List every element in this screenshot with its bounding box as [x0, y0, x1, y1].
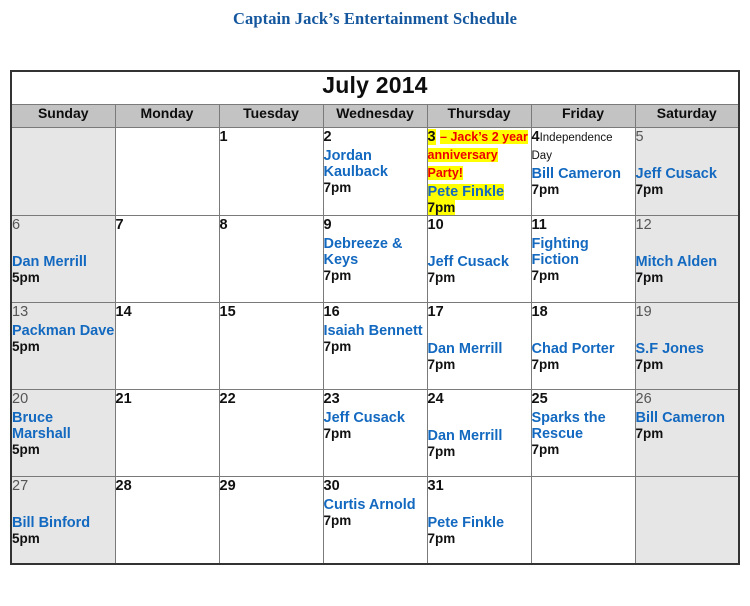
day-number: 6	[12, 217, 20, 233]
day-number: 28	[116, 478, 132, 494]
day-cell-20[interactable]: 20Bruce Marshall5pm	[11, 390, 115, 477]
event-artist: Jeff Cusack	[428, 254, 509, 270]
day-number: 7	[116, 217, 124, 233]
day-cell-2[interactable]: 2Jordan Kaulback7pm	[323, 128, 427, 216]
event-time-line: 7pm	[324, 513, 427, 528]
event-time-line: 7pm	[636, 182, 739, 197]
day-number: 25	[532, 391, 548, 407]
calendar-week-row: 13Packman Dave5pm141516Isaiah Bennett7pm…	[11, 303, 739, 390]
day-number: 3	[428, 129, 436, 145]
day-cell-empty[interactable]	[531, 477, 635, 565]
event-time-line: 7pm	[428, 531, 531, 546]
event-note: – Jack’s 2 year anniversary Party!	[428, 130, 528, 180]
event-time: 5pm	[12, 339, 40, 354]
event-time-line: 7pm	[636, 357, 739, 372]
day-cell-1[interactable]: 1	[219, 128, 323, 216]
event-artist-line: Packman Dave	[12, 323, 115, 339]
event-artist-line: Mitch Alden	[636, 254, 739, 270]
day-cell-22[interactable]: 22	[219, 390, 323, 477]
weekday-header-row: SundayMondayTuesdayWednesdayThursdayFrid…	[11, 105, 739, 128]
event-time: 7pm	[324, 268, 352, 283]
event-artist: Jeff Cusack	[324, 410, 405, 426]
event-time: 7pm	[636, 357, 664, 372]
event-artist-line: Isaiah Bennett	[324, 323, 427, 339]
day-cell-11[interactable]: 11Fighting Fiction7pm	[531, 216, 635, 303]
event-artist-line: Jeff Cusack	[428, 254, 531, 270]
calendar-container: July 2014 SundayMondayTuesdayWednesdayTh…	[10, 70, 740, 565]
day-number: 4	[532, 129, 540, 145]
event-artist: Pete Finkle	[428, 515, 505, 531]
event-time: 7pm	[636, 270, 664, 285]
day-cell-empty[interactable]	[635, 477, 739, 565]
event-artist: Fighting Fiction	[532, 236, 589, 268]
day-cell-10[interactable]: 10Jeff Cusack7pm	[427, 216, 531, 303]
event-time-line: 5pm	[12, 270, 115, 285]
day-cell-17[interactable]: 17Dan Merrill7pm	[427, 303, 531, 390]
weekday-header-friday: Friday	[531, 105, 635, 128]
weekday-header-sunday: Sunday	[11, 105, 115, 128]
event-artist-line: Pete Finkle	[428, 184, 531, 200]
event-time: 7pm	[428, 200, 456, 215]
day-number: 14	[116, 304, 132, 320]
day-cell-26[interactable]: 26Bill Cameron7pm	[635, 390, 739, 477]
day-cell-8[interactable]: 8	[219, 216, 323, 303]
event-time: 7pm	[428, 270, 456, 285]
event-artist: Dan Merrill	[428, 341, 503, 357]
event-artist-line: Bill Binford	[12, 515, 115, 531]
event-artist: Packman Dave	[12, 323, 114, 339]
event-artist-line: Dan Merrill	[428, 428, 531, 444]
event-artist: Bruce Marshall	[12, 410, 71, 442]
weekday-header-thursday: Thursday	[427, 105, 531, 128]
day-cell-empty[interactable]	[115, 128, 219, 216]
calendar-week-row: 12Jordan Kaulback7pm3 – Jack’s 2 year an…	[11, 128, 739, 216]
month-title: July 2014	[11, 71, 739, 105]
event-time: 5pm	[12, 442, 40, 457]
day-number: 12	[636, 217, 652, 233]
day-number: 31	[428, 478, 444, 494]
day-cell-21[interactable]: 21	[115, 390, 219, 477]
event-time-line: 7pm	[532, 268, 635, 283]
calendar-week-row: 27Bill Binford5pm282930Curtis Arnold7pm3…	[11, 477, 739, 565]
day-cell-28[interactable]: 28	[115, 477, 219, 565]
event-artist-line: Jeff Cusack	[324, 410, 427, 426]
event-artist: Bill Binford	[12, 515, 90, 531]
event-time-line: 7pm	[324, 180, 427, 195]
event-time-line: 5pm	[12, 339, 115, 354]
day-number: 27	[12, 478, 28, 494]
event-time-line: 7pm	[532, 442, 635, 457]
event-time-line: 7pm	[428, 270, 531, 285]
event-artist: Dan Merrill	[12, 254, 87, 270]
day-number: 1	[220, 129, 228, 145]
day-cell-12[interactable]: 12Mitch Alden7pm	[635, 216, 739, 303]
event-time-line: 5pm	[12, 531, 115, 546]
event-artist: Dan Merrill	[428, 428, 503, 444]
day-cell-23[interactable]: 23Jeff Cusack7pm	[323, 390, 427, 477]
event-time: 7pm	[324, 339, 352, 354]
event-time-line: 7pm	[324, 339, 427, 354]
day-number: 30	[324, 478, 340, 494]
day-number: 23	[324, 391, 340, 407]
event-artist: S.F Jones	[636, 341, 705, 357]
event-time-line: 7pm	[324, 426, 427, 441]
event-time-line: 7pm	[324, 268, 427, 283]
day-number: 22	[220, 391, 236, 407]
event-artist-line: Jeff Cusack	[636, 166, 739, 182]
event-artist: Chad Porter	[532, 341, 615, 357]
event-artist-line: Sparks the Rescue	[532, 410, 635, 442]
day-cell-31[interactable]: 31Pete Finkle7pm	[427, 477, 531, 565]
event-time: 5pm	[12, 531, 40, 546]
month-title-row: July 2014	[11, 71, 739, 105]
day-cell-empty[interactable]	[11, 128, 115, 216]
day-cell-14[interactable]: 14	[115, 303, 219, 390]
event-artist-line: Curtis Arnold	[324, 497, 427, 513]
event-artist: Isaiah Bennett	[324, 323, 423, 339]
day-cell-16[interactable]: 16Isaiah Bennett7pm	[323, 303, 427, 390]
event-time: 7pm	[636, 426, 664, 441]
event-time-line: 7pm	[636, 426, 739, 441]
day-cell-3[interactable]: 3 – Jack’s 2 year anniversary Party!Pete…	[427, 128, 531, 216]
weekday-header-saturday: Saturday	[635, 105, 739, 128]
event-artist-line: Pete Finkle	[428, 515, 531, 531]
event-artist-line: Dan Merrill	[12, 254, 115, 270]
day-number: 9	[324, 217, 332, 233]
event-time-line: 7pm	[428, 444, 531, 459]
event-artist-line: Dan Merrill	[428, 341, 531, 357]
calendar-body: July 2014 SundayMondayTuesdayWednesdayTh…	[11, 71, 739, 564]
holiday-label: Independence Day	[532, 132, 613, 162]
event-time: 5pm	[12, 270, 40, 285]
calendar-week-row: 20Bruce Marshall5pm212223Jeff Cusack7pm2…	[11, 390, 739, 477]
day-cell-15[interactable]: 15	[219, 303, 323, 390]
event-artist-line: Bruce Marshall	[12, 410, 115, 442]
event-time-line: 5pm	[12, 442, 115, 457]
event-time: 7pm	[532, 442, 560, 457]
weekday-header-monday: Monday	[115, 105, 219, 128]
event-artist-line: S.F Jones	[636, 341, 739, 357]
weekday-header-tuesday: Tuesday	[219, 105, 323, 128]
event-time: 7pm	[428, 444, 456, 459]
event-time: 7pm	[324, 180, 352, 195]
day-number: 10	[428, 217, 444, 233]
event-artist-line: Bill Cameron	[532, 166, 635, 182]
event-time-line: 7pm	[428, 357, 531, 372]
day-cell-13[interactable]: 13Packman Dave5pm	[11, 303, 115, 390]
calendar-table: July 2014 SundayMondayTuesdayWednesdayTh…	[10, 70, 740, 565]
day-cell-18[interactable]: 18Chad Porter7pm	[531, 303, 635, 390]
day-cell-29[interactable]: 29	[219, 477, 323, 565]
event-artist: Jordan Kaulback	[324, 148, 388, 180]
day-number: 13	[12, 304, 28, 320]
event-artist: Bill Cameron	[636, 410, 725, 426]
event-time-line: 7pm	[428, 200, 531, 215]
event-artist: Debreeze & Keys	[324, 236, 403, 268]
day-number: 15	[220, 304, 236, 320]
event-artist: Mitch Alden	[636, 254, 718, 270]
event-time: 7pm	[532, 268, 560, 283]
day-cell-24[interactable]: 24Dan Merrill7pm	[427, 390, 531, 477]
event-artist-line: Fighting Fiction	[532, 236, 635, 268]
day-number: 17	[428, 304, 444, 320]
day-number: 2	[324, 129, 332, 145]
event-time: 7pm	[428, 357, 456, 372]
event-time: 7pm	[532, 182, 560, 197]
day-cell-4[interactable]: 4Independence DayBill Cameron7pm	[531, 128, 635, 216]
day-number: 24	[428, 391, 444, 407]
day-number: 16	[324, 304, 340, 320]
event-artist: Curtis Arnold	[324, 497, 416, 513]
event-artist-line: Jordan Kaulback	[324, 148, 427, 180]
day-cell-7[interactable]: 7	[115, 216, 219, 303]
day-number: 19	[636, 304, 652, 320]
event-artist: Bill Cameron	[532, 166, 621, 182]
day-number: 18	[532, 304, 548, 320]
day-number: 20	[12, 391, 28, 407]
day-number: 11	[532, 217, 547, 233]
day-number: 21	[116, 391, 132, 407]
page-title: Captain Jack’s Entertainment Schedule	[0, 0, 750, 29]
event-time-line: 7pm	[532, 357, 635, 372]
event-time-line: 7pm	[532, 182, 635, 197]
event-artist-line: Debreeze & Keys	[324, 236, 427, 268]
event-time: 7pm	[324, 426, 352, 441]
day-cell-5[interactable]: 5Jeff Cusack7pm	[635, 128, 739, 216]
event-time: 7pm	[636, 182, 664, 197]
day-cell-30[interactable]: 30Curtis Arnold7pm	[323, 477, 427, 565]
event-artist: Jeff Cusack	[636, 166, 717, 182]
event-artist-line: Bill Cameron	[636, 410, 739, 426]
event-artist-line: Chad Porter	[532, 341, 635, 357]
event-time: 7pm	[324, 513, 352, 528]
event-time-line: 7pm	[636, 270, 739, 285]
day-number: 8	[220, 217, 228, 233]
day-number: 29	[220, 478, 236, 494]
event-artist: Pete Finkle	[428, 184, 505, 200]
day-cell-27[interactable]: 27Bill Binford5pm	[11, 477, 115, 565]
day-number: 5	[636, 129, 644, 145]
day-cell-9[interactable]: 9Debreeze & Keys7pm	[323, 216, 427, 303]
day-number: 26	[636, 391, 652, 407]
event-artist: Sparks the Rescue	[532, 410, 606, 442]
calendar-week-row: 6Dan Merrill5pm789Debreeze & Keys7pm10Je…	[11, 216, 739, 303]
weekday-header-wednesday: Wednesday	[323, 105, 427, 128]
event-time: 7pm	[532, 357, 560, 372]
day-cell-25[interactable]: 25Sparks the Rescue7pm	[531, 390, 635, 477]
day-cell-6[interactable]: 6Dan Merrill5pm	[11, 216, 115, 303]
event-time: 7pm	[428, 531, 456, 546]
day-cell-19[interactable]: 19S.F Jones7pm	[635, 303, 739, 390]
